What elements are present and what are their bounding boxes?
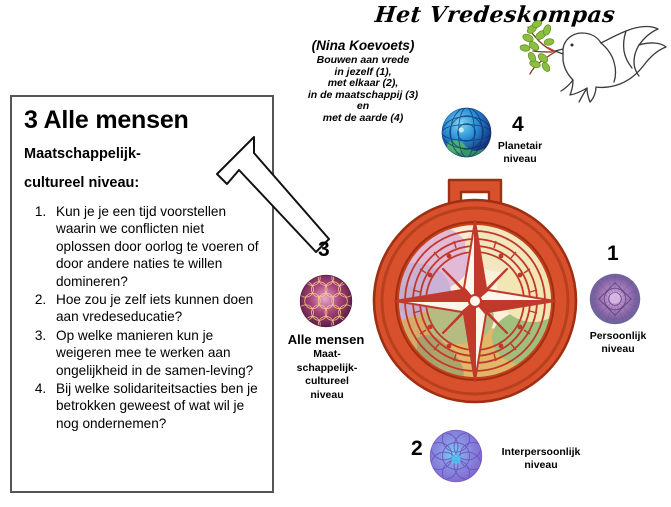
orb-interpersonal [427, 427, 485, 485]
level-label-society-line3: cultureel [282, 375, 372, 389]
level-label-personal-line1: Persoonlijk [578, 330, 658, 343]
subtitle-line-6: met de aarde (4) [258, 113, 468, 125]
level-number-4: 4 [512, 113, 524, 137]
level-label-society-line4: niveau [282, 389, 372, 403]
credit-block: (Nina Koevoets) Bouwen aan vrede in jeze… [258, 38, 468, 125]
panel-subtitle-line-2: cultureel niveau: [24, 170, 262, 197]
level-label-interpersonal-line2: niveau [491, 459, 591, 472]
question-panel: 3 Alle mensen Maatschappelijk- cultureel… [10, 95, 274, 493]
level-label-interpersonal-line1: Interpersoonlijk [491, 446, 591, 459]
panel-subtitle-line-1: Maatschappelijk- [24, 141, 262, 168]
level-label-personal-line2: niveau [578, 343, 658, 356]
level-label-society: Maat- schappelijk- cultureel niveau [282, 348, 372, 402]
level-label-planetary: Planetair niveau [480, 140, 560, 166]
list-item: Bij welke solidariteitsacties ben je bet… [50, 380, 262, 432]
level-number-1: 1 [607, 242, 619, 266]
panel-title: 3 Alle mensen [24, 106, 262, 135]
level-label-society-title: Alle mensen [272, 332, 380, 347]
level-number-2: 2 [411, 437, 423, 461]
orb-personal [588, 272, 642, 326]
subtitle-line-1: Bouwen aan vrede [258, 55, 468, 67]
level-label-society-line2: schappelijk- [282, 362, 372, 376]
peace-dove-with-olive-branch-icon [508, 2, 671, 110]
question-list: Kun je je een tijd voorstellen waarin we… [24, 203, 262, 432]
level-label-personal: Persoonlijk niveau [578, 330, 658, 356]
compass-rose-icon [355, 168, 595, 408]
author-name: (Nina Koevoets) [258, 38, 468, 54]
level-label-interpersonal: Interpersoonlijk niveau [491, 446, 591, 472]
list-item: Hoe zou je zelf iets kunnen doen aan vre… [50, 291, 262, 326]
list-item: Op welke manieren kun je weigeren mee te… [50, 327, 262, 379]
level-number-3: 3 [318, 238, 330, 262]
level-label-society-line1: Maat- [282, 348, 372, 362]
level-label-planetary-line2: niveau [480, 153, 560, 166]
level-label-planetary-line1: Planetair [480, 140, 560, 153]
poster-canvas: Het Vredeskompas [0, 0, 671, 507]
orb-society [297, 272, 355, 330]
list-item: Kun je je een tijd voorstellen waarin we… [50, 203, 262, 290]
